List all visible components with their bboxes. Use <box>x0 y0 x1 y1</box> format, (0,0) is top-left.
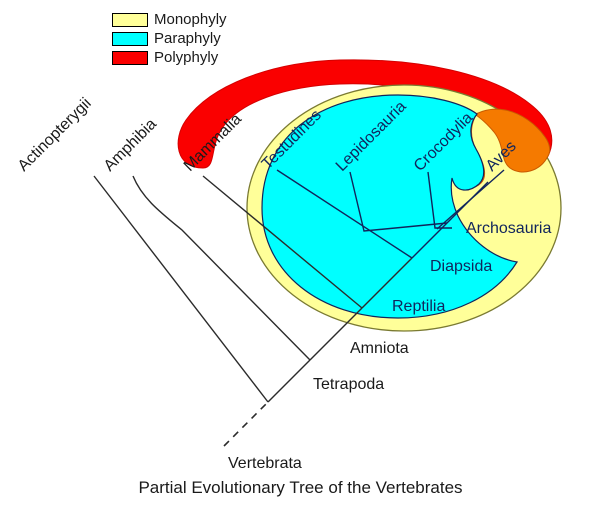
tree-diagram-canvas: Actinopterygii Amphibia Mammalia Testudi… <box>0 0 601 512</box>
node-label-tetrapoda: Tetrapoda <box>313 376 384 393</box>
node-label-diapsida: Diapsida <box>430 258 492 275</box>
legend-item-monophyly: Monophyly <box>112 10 312 29</box>
tip-label-amphibia: Amphibia <box>101 116 160 175</box>
legend-label-paraphyly: Paraphyly <box>154 31 221 46</box>
node-label-amniota: Amniota <box>350 340 409 357</box>
node-label-reptilia: Reptilia <box>392 298 445 315</box>
figure-caption: Partial Evolutionary Tree of the Vertebr… <box>0 478 601 498</box>
tip-label-actinopterygii: Actinopterygii <box>15 95 95 175</box>
legend-swatch-paraphyly <box>112 32 148 46</box>
node-label-vertebrata: Vertebrata <box>228 455 302 472</box>
legend-swatch-monophyly <box>112 13 148 27</box>
legend-label-monophyly: Monophyly <box>154 12 227 27</box>
legend-item-paraphyly: Paraphyly <box>112 29 312 48</box>
node-label-archosauria: Archosauria <box>466 220 551 237</box>
legend-swatch-polyphyly <box>112 51 148 65</box>
legend-label-polyphyly: Polyphyly <box>154 50 218 65</box>
branch-backbone-lower <box>268 360 310 402</box>
phylogenetic-tree-figure: Actinopterygii Amphibia Mammalia Testudi… <box>0 0 601 512</box>
legend-item-polyphyly: Polyphyly <box>112 48 312 67</box>
branch-actinopterygii <box>94 176 268 402</box>
legend: Monophyly Paraphyly Polyphyly <box>112 10 312 68</box>
branch-vertebrata-root <box>224 402 268 446</box>
